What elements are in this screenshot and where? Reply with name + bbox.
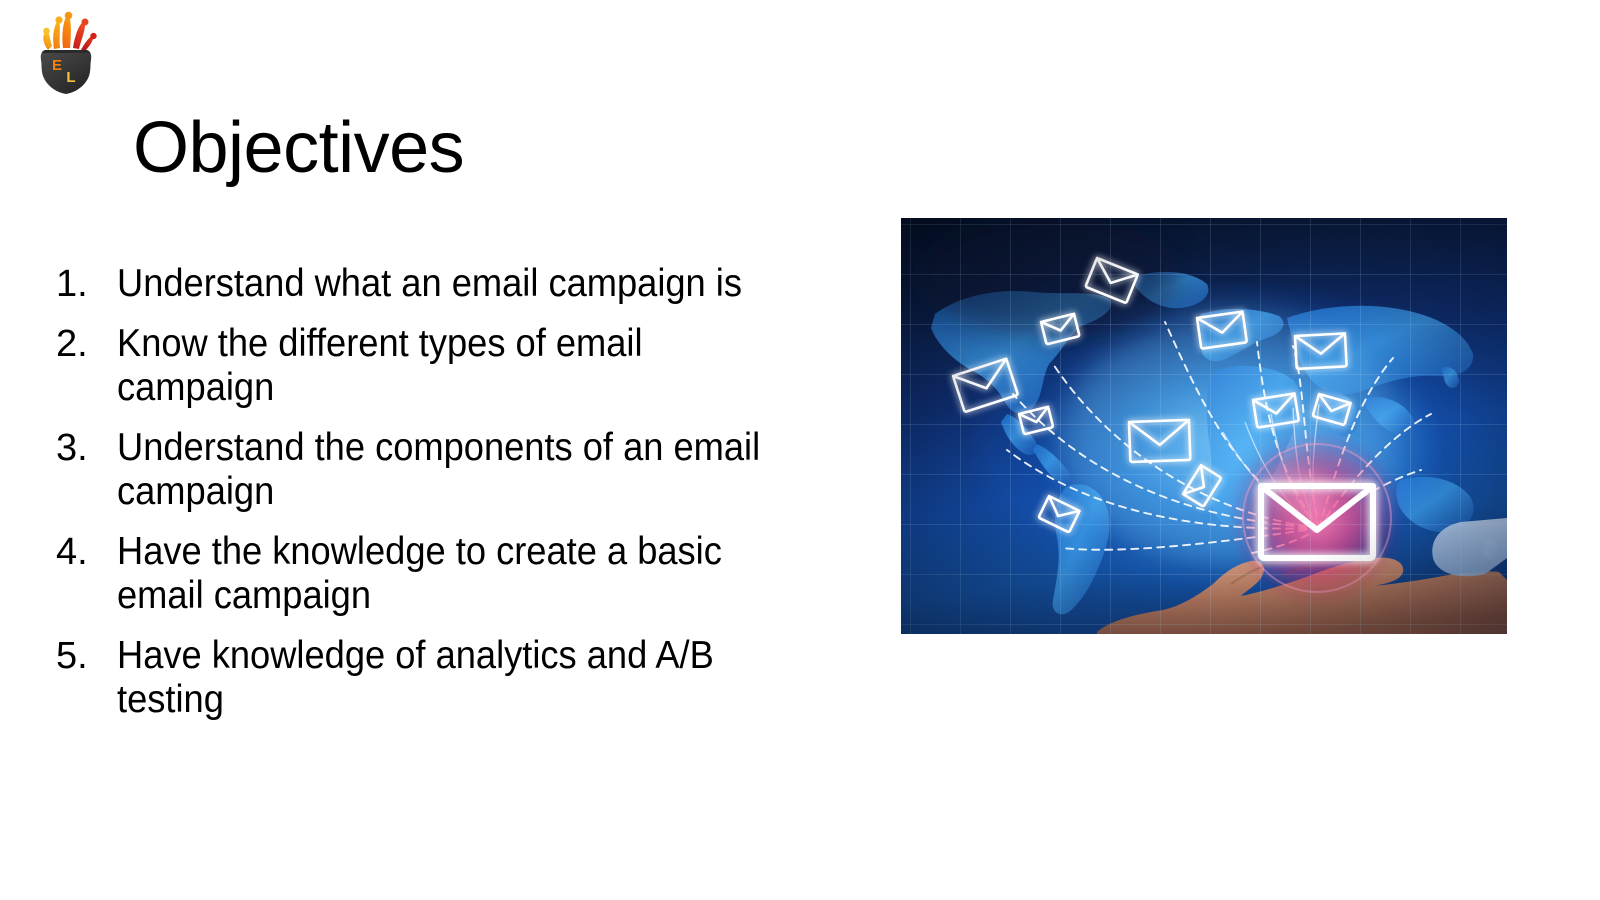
logo-letter-l: L	[66, 69, 75, 86]
list-item-label: Have knowledge of analytics and A/B test…	[117, 634, 804, 722]
list-item: 5. Have knowledge of analytics and A/B t…	[56, 634, 856, 722]
list-item-label: Understand the components of an email ca…	[117, 426, 804, 514]
list-item: 2. Know the different types of email cam…	[56, 322, 856, 410]
list-item-label: Understand what an email campaign is	[117, 262, 804, 306]
list-item-label: Have the knowledge to create a basic ema…	[117, 530, 804, 618]
list-item-number: 1.	[56, 262, 117, 306]
list-item-number: 3.	[56, 426, 117, 470]
logo-letter-e: E	[52, 57, 62, 74]
slide-canvas: E L Objectives 1. Understand what an ema…	[0, 0, 1600, 900]
objectives-list: 1. Understand what an email campaign is …	[56, 262, 856, 738]
list-item-number: 4.	[56, 530, 117, 574]
e-l-flame-logo: E L	[30, 8, 102, 96]
list-item-label: Know the different types of email campai…	[117, 322, 804, 410]
list-item: 3. Understand the components of an email…	[56, 426, 856, 514]
list-item-number: 5.	[56, 634, 117, 678]
global-email-campaign-image	[901, 218, 1507, 634]
flame-splash-group	[43, 12, 96, 51]
page-title: Objectives	[133, 112, 464, 184]
list-item: 4. Have the knowledge to create a basic …	[56, 530, 856, 618]
list-item-number: 2.	[56, 322, 117, 366]
list-item: 1. Understand what an email campaign is	[56, 262, 856, 306]
